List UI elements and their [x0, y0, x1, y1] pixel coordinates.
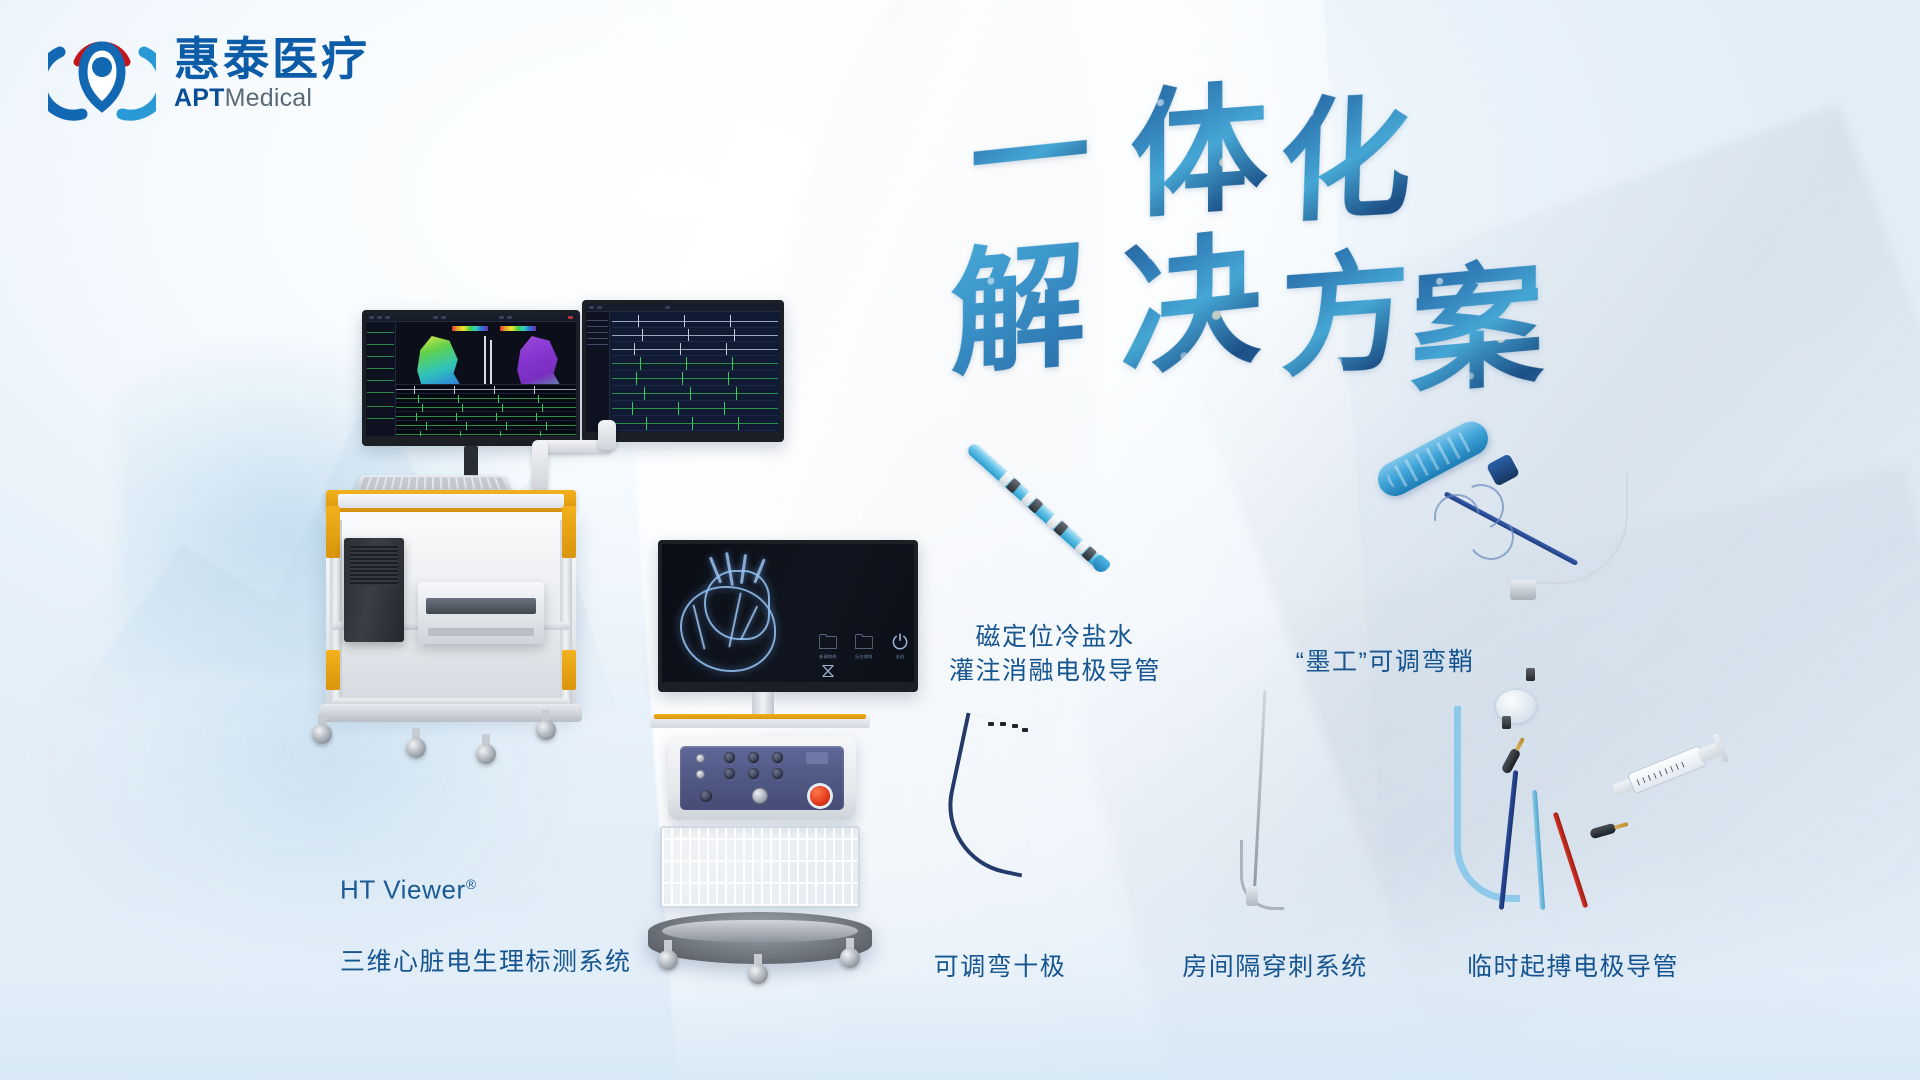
monitor-arm-vertical — [532, 440, 548, 492]
cart-accent-right-lower — [562, 650, 576, 690]
caption-decapolar: 可调弯十极 — [934, 950, 1067, 984]
catheter-config-icon[interactable]: ⧖导管配置 — [814, 660, 842, 682]
caster-center — [406, 728, 426, 756]
caption-ablation-catheter: 磁定位冷盐水 灌注消融电极导管 — [949, 620, 1161, 688]
headline-char-4: 解 — [950, 194, 1085, 404]
generator-front-panel — [680, 746, 844, 810]
cart-accent-left — [326, 506, 340, 558]
poster-canvas: 惠泰医疗 APTMedical 一 体 化 解 决 方 案 — [0, 0, 1920, 1080]
brand-name-en-light: Medical — [225, 84, 313, 112]
cart2-caster-front — [748, 954, 768, 982]
stimulator-generator — [668, 736, 856, 820]
headline-char-6: 方 — [1280, 205, 1410, 403]
status-indicator — [806, 752, 828, 764]
stimulator-cart: 🗀新建病例 🗀历史病例 ⏻关机 ⧖导管配置 — [640, 540, 970, 1040]
accessory-basket — [660, 826, 860, 908]
x-ray-heart-graphic — [674, 552, 804, 680]
cart-accent-right — [562, 506, 576, 558]
power-icon[interactable]: ⏻关机 — [886, 632, 914, 660]
mapping-ecg-panel — [396, 384, 576, 436]
ecg-toolbar — [586, 304, 780, 312]
ht-viewer-subtitle: 三维心脏电生理标测系统 — [340, 944, 632, 980]
brand-name-en-bold: APT — [174, 84, 225, 112]
mapping-canvas — [396, 322, 576, 436]
caption-pacing-catheter: 临时起搏电极导管 — [1467, 950, 1679, 984]
cart-top-shelf — [326, 490, 576, 512]
caption-ht-viewer: HT Viewer® 三维心脏电生理标测系统 — [340, 830, 632, 1016]
brand-name-en: APTMedical — [174, 85, 370, 113]
pacing-connector-red — [1589, 823, 1617, 840]
caster-front-left — [312, 714, 332, 742]
ecg-monitor-screen — [586, 304, 780, 432]
computer-tower — [344, 538, 404, 642]
mapping-monitor-screen — [366, 314, 576, 436]
catheter-render — [484, 336, 486, 384]
cart2-caster-left — [658, 940, 678, 968]
apt-medical-logo-icon — [48, 22, 156, 126]
printer — [418, 582, 544, 644]
brand-name-cn: 惠泰医疗 — [174, 35, 370, 83]
headline-char-7: 案 — [1410, 214, 1544, 420]
mapping-monitor — [362, 310, 580, 446]
inflation-syringe — [1608, 731, 1730, 807]
display-column — [752, 692, 774, 716]
ablation-catheter-photo — [970, 440, 1170, 610]
ecg-trace-canvas — [610, 312, 780, 432]
headline-char-5: 决 — [1120, 182, 1261, 404]
heart-display-monitor: 🗀新建病例 🗀历史病例 ⏻关机 ⧖导管配置 — [658, 540, 918, 692]
headline-calligraphy: 一 体 化 解 决 方 案 — [950, 40, 1630, 370]
cart2-caster-right — [840, 938, 860, 966]
ht-viewer-name: HT Viewer® — [340, 866, 632, 908]
caster-front-right — [476, 734, 496, 762]
emergency-button[interactable] — [810, 786, 830, 806]
caption-septal-puncture: 房间隔穿刺系统 — [1182, 950, 1368, 984]
monitor-arm-joint — [598, 420, 616, 450]
new-folder-icon[interactable]: 🗀新建病例 — [814, 632, 842, 660]
folder-icon[interactable]: 🗀历史病例 — [850, 632, 878, 660]
ecg-channel-list — [586, 312, 610, 432]
steerable-sheath-photo — [1380, 430, 1680, 630]
cart-accent-left-lower — [326, 650, 340, 690]
caster-rear-right — [536, 710, 556, 738]
map-colorbar-left — [452, 326, 488, 331]
septal-puncture-photo — [1230, 690, 1340, 940]
mapping-toolbar — [366, 314, 576, 322]
heart-display-screen: 🗀新建病例 🗀历史病例 ⏻关机 ⧖导管配置 — [662, 544, 914, 682]
caption-steerable-sheath: “墨工”可调弯鞘 — [1296, 645, 1475, 679]
decapolar-catheter-photo — [950, 720, 1080, 920]
pacing-catheter-photo — [1440, 660, 1740, 910]
brand-logo: 惠泰医疗 APTMedical — [48, 22, 370, 126]
electrogram-sidebar — [366, 322, 396, 436]
cart-tray-accent — [654, 714, 866, 719]
map-colorbar-right — [500, 326, 536, 331]
catheter-render-2 — [490, 340, 492, 384]
